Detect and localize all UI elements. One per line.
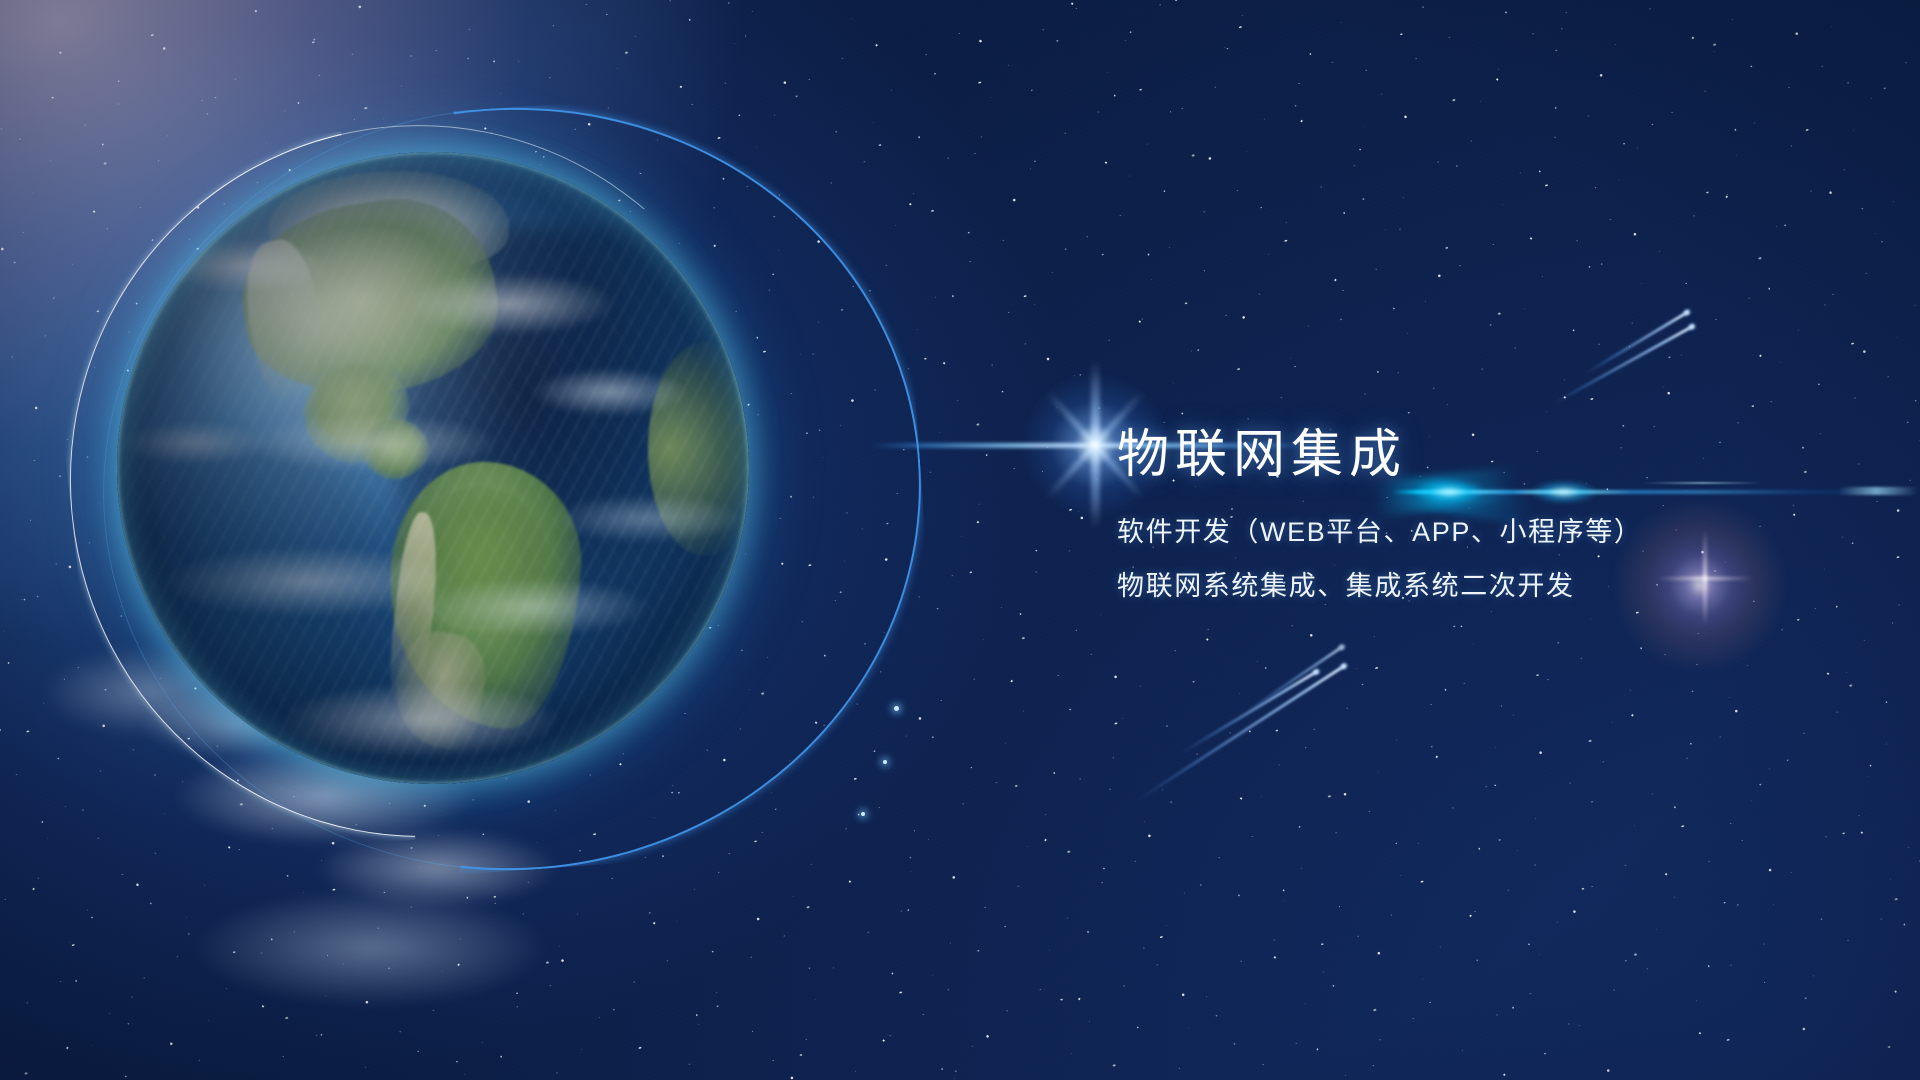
meteor-tail xyxy=(1243,645,1344,714)
meteor-head xyxy=(1686,321,1698,332)
meteor-head xyxy=(1681,307,1693,318)
lens-flare-far-streak xyxy=(1838,487,1918,495)
meteor-head xyxy=(1336,642,1348,653)
banner-subtitle-2: 物联网系统集成、集成系统二次开发 xyxy=(1117,573,1837,600)
meteor-tail xyxy=(1553,324,1694,404)
meteor-streak xyxy=(1553,324,1693,402)
meteor-tail xyxy=(1180,670,1318,755)
meteor-head xyxy=(1338,661,1350,672)
banner-stage: 物联网集成 软件开发（WEB平台、APP、小程序等） 物联网系统集成、集成系统二… xyxy=(0,0,1920,1080)
meteor-streak xyxy=(1135,664,1345,800)
meteor-streak xyxy=(1180,670,1317,752)
orbit-node-dot xyxy=(861,812,865,816)
meteor-streak xyxy=(1243,645,1342,712)
meteor-head xyxy=(1310,666,1322,677)
flare-spike-vertical xyxy=(1091,361,1100,529)
page-title: 物联网集成 xyxy=(1117,425,1837,486)
orbit-node-dot xyxy=(883,760,887,764)
orbit-node-dot xyxy=(894,706,899,711)
banner-text-block: 物联网集成 软件开发（WEB平台、APP、小程序等） 物联网系统集成、集成系统二… xyxy=(1117,425,1837,600)
globe-rim-light xyxy=(117,152,749,784)
meteor-tail xyxy=(1135,664,1346,802)
meteor-tail xyxy=(1585,310,1689,374)
flare-bar xyxy=(1838,487,1918,495)
meteor-streak xyxy=(1585,310,1688,372)
earth-globe-americas xyxy=(117,152,749,784)
globe-sphere xyxy=(117,152,749,784)
banner-subtitle-1: 软件开发（WEB平台、APP、小程序等） xyxy=(1117,519,1837,546)
